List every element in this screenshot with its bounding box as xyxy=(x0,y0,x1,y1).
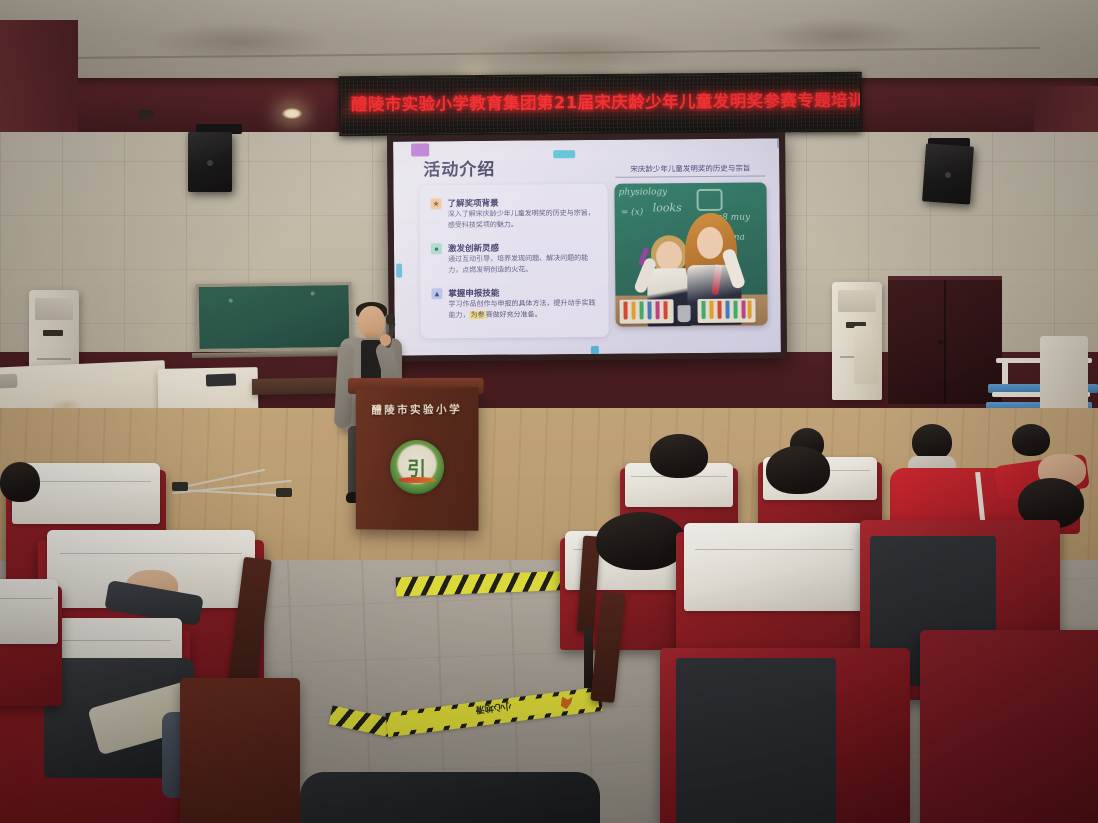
ceiling-stain xyxy=(470,30,690,76)
test-tube xyxy=(623,302,627,320)
test-tube xyxy=(639,302,643,320)
slide-title: 活动介绍 xyxy=(423,155,495,181)
lightbulb-icon: ● xyxy=(431,243,442,254)
auditorium-scene: 醴陵市实验小学教育集团第21届宋庆龄少年儿童发明奖参赛专题培训 活动介绍 ★ 了… xyxy=(0,0,1098,823)
chalk-mark xyxy=(311,291,315,295)
head xyxy=(650,434,708,478)
audience-member-hand xyxy=(106,566,226,614)
test-tube xyxy=(631,302,635,320)
rocket-icon: ▲ xyxy=(431,288,442,299)
slide-bullet: ▲ 掌握申报技能 学习作品创作与申报的具体方法，提升动手实践能力，为参赛做好充分… xyxy=(431,286,603,288)
test-tube xyxy=(663,301,667,319)
microphone-head xyxy=(386,314,395,325)
audience-member xyxy=(0,462,44,504)
speaker-left xyxy=(188,132,232,192)
water-cooler xyxy=(854,326,878,384)
face xyxy=(697,227,723,259)
slide-bullet: ● 激发创新灵感 通过互动引导，培养发现问题、解决问题的能力，点燃发明创造的火花… xyxy=(431,241,603,243)
chalk-text: looks xyxy=(653,201,682,214)
test-tube xyxy=(717,301,721,319)
slide-decor-square xyxy=(396,264,402,278)
ac-vent xyxy=(43,330,63,336)
ac-grille xyxy=(35,298,73,320)
test-tube xyxy=(741,301,745,319)
speaker-cone xyxy=(945,172,951,178)
ceiling-stain xyxy=(150,22,330,62)
speaker-right xyxy=(922,143,974,204)
slide-decor-square xyxy=(777,138,781,148)
trophy-icon: ★ xyxy=(431,198,442,209)
bullet-body: 深入了解宋庆龄少年儿童发明奖的历史与宗旨，感受科技奖项的魅力。 xyxy=(448,208,600,230)
slide-bullet-card: ★ 了解奖项背景 深入了解宋庆龄少年儿童发明奖的历史与宗旨，感受科技奖项的魅力。… xyxy=(419,184,608,339)
audience-member xyxy=(650,434,712,478)
bullet-body-highlight: 为参 xyxy=(470,310,486,318)
cable-connector xyxy=(172,482,188,491)
auditorium-seat[interactable] xyxy=(0,586,62,706)
chalk-mark xyxy=(229,299,233,303)
led-banner-text: 醴陵市实验小学教育集团第21届宋庆龄少年儿童发明奖参赛专题培训 xyxy=(351,87,854,115)
cable-connector xyxy=(276,488,292,497)
led-banner: 醴陵市实验小学教育集团第21届宋庆龄少年儿童发明奖参赛专题培训 xyxy=(339,72,863,137)
bullet-heading: 了解奖项背景 xyxy=(448,197,499,209)
slide-bullet: ★ 了解奖项背景 深入了解宋庆龄少年儿童发明奖的历史与宗旨，感受科技奖项的魅力。 xyxy=(431,196,603,198)
head xyxy=(766,446,830,494)
door-knob xyxy=(938,340,943,345)
projection-screen: 活动介绍 ★ 了解奖项背景 深入了解宋庆龄少年儿童发明奖的历史与宗旨，感受科技奖… xyxy=(387,132,787,361)
auditorium-seat[interactable] xyxy=(180,678,300,823)
green-chalkboard xyxy=(196,282,353,352)
bullet-body: 通过互动引导，培养发现问题、解决问题的能力，点燃发明创造的火花。 xyxy=(448,253,600,275)
speaker-cone xyxy=(207,160,213,166)
door-seam xyxy=(944,280,946,404)
audience-member xyxy=(766,446,834,496)
headrest-cover xyxy=(0,579,58,644)
rear-doorway xyxy=(888,276,1002,404)
seat-back xyxy=(920,630,1098,823)
ceiling xyxy=(0,0,1098,86)
podium: 醴陵市实验小学 引 xyxy=(356,387,479,531)
headrest-cover xyxy=(684,523,864,611)
ceiling-spotlight xyxy=(282,108,302,119)
test-tube-rack xyxy=(619,299,673,323)
test-tube xyxy=(733,301,737,319)
chalk-text: physiology xyxy=(618,187,667,197)
spotlight-housing xyxy=(138,110,154,119)
logo-arc xyxy=(398,477,436,483)
chalk-text: = (x) xyxy=(621,208,644,218)
torso xyxy=(300,772,600,823)
chalk-doodle xyxy=(696,189,722,211)
slide-decor-square xyxy=(591,346,599,356)
laptop xyxy=(206,373,236,386)
floor-cables xyxy=(172,472,308,500)
test-tube-rack xyxy=(697,299,755,324)
ceiling-stain xyxy=(760,18,920,54)
head xyxy=(0,462,40,502)
seat-back xyxy=(180,678,300,823)
auditorium-seat[interactable] xyxy=(920,630,1098,823)
test-tube xyxy=(655,301,659,319)
test-tube xyxy=(709,301,713,319)
audience-member xyxy=(300,772,600,823)
bullet-body-after: 赛做好充分准备。 xyxy=(486,310,542,318)
slide-right-heading: 宋庆龄少年儿童发明奖的历史与宗旨 xyxy=(615,162,765,177)
bullet-heading: 掌握申报技能 xyxy=(448,287,499,299)
bullet-body-3: 学习作品创作与申报的具体方法，提升动手实践能力，为参赛做好充分准备。 xyxy=(448,298,600,320)
podium-school-name: 醴陵市实验小学 xyxy=(356,401,479,417)
head xyxy=(596,512,686,570)
face xyxy=(656,241,682,271)
ac-seam xyxy=(37,358,71,360)
hand xyxy=(380,334,391,346)
seat-cushion xyxy=(676,658,836,823)
test-tube xyxy=(701,301,705,319)
test-tube xyxy=(747,301,751,319)
test-tube xyxy=(725,301,729,319)
auditorium-seat[interactable] xyxy=(660,648,910,823)
bullet-heading: 激发创新灵感 xyxy=(448,242,499,254)
students-chemistry-photo: physiology looks e8 muy = (x) ma xyxy=(614,182,767,326)
beaker xyxy=(678,305,691,322)
school-logo: 引 xyxy=(390,440,444,494)
slide-decor-square xyxy=(553,150,575,158)
ac-grille xyxy=(838,290,876,312)
presentation-slide: 活动介绍 ★ 了解奖项背景 深入了解宋庆龄少年儿童发明奖的历史与宗旨，感受科技奖… xyxy=(393,138,781,355)
test-tube xyxy=(647,301,651,319)
cover-emblem xyxy=(0,374,18,389)
